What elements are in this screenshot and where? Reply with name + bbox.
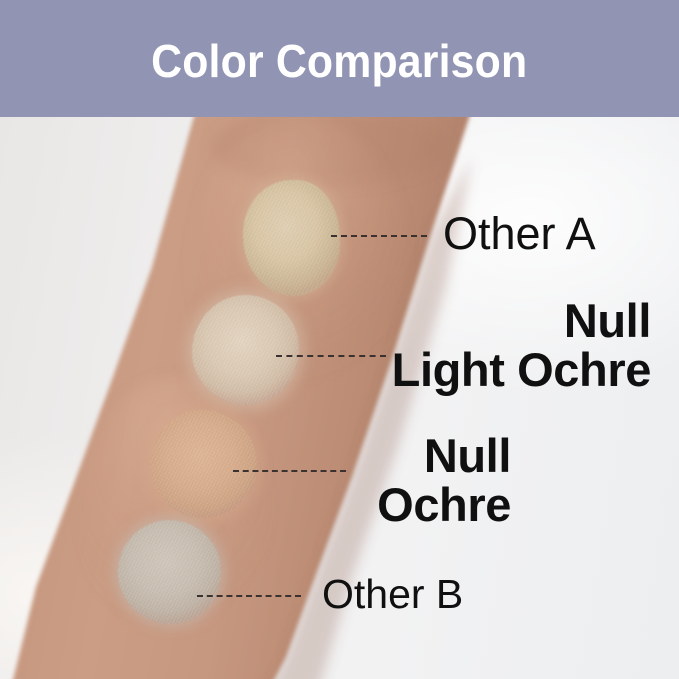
swatch-other-b <box>118 520 221 624</box>
swatch-other-a <box>243 180 340 296</box>
callout-label-other-b: Other B <box>322 573 463 616</box>
leader-line-other-a <box>331 235 427 237</box>
leader-line-null-ochre <box>233 470 346 472</box>
leader-line-other-b <box>197 595 301 597</box>
header-banner: Color Comparison <box>0 0 679 117</box>
callout-label-null-light-ochre: Null Light Ochre <box>392 297 651 395</box>
leader-line-null-light-ochre <box>276 355 386 357</box>
callout-label-other-a: Other A <box>443 211 596 258</box>
color-comparison-image: Color Comparison <box>0 0 679 679</box>
page-title: Color Comparison <box>151 38 527 84</box>
callout-label-null-ochre: Null Ochre <box>377 432 511 530</box>
swatch-null-light-ochre <box>192 295 299 405</box>
swatch-null-ochre <box>151 410 257 518</box>
